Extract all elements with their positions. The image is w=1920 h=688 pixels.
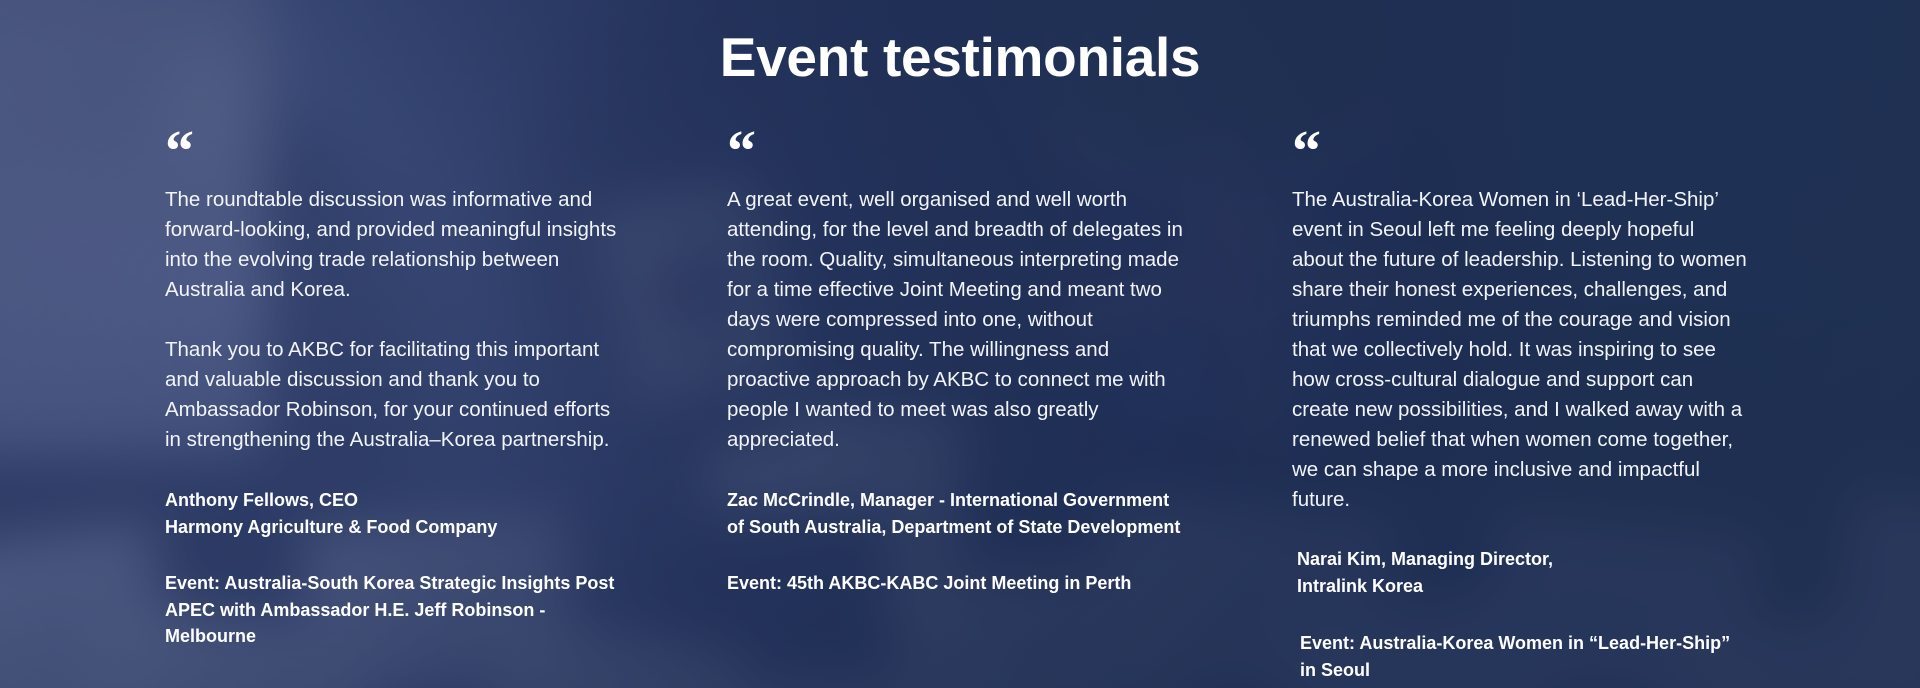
quote-open-icon: “ (1292, 133, 1747, 167)
testimonials-section: Event testimonials “ The roundtable disc… (0, 0, 1920, 688)
testimonial-quote-paragraph: Thank you to AKBC for facilitating this … (165, 335, 630, 455)
testimonial-event: Event: 45th AKBC-KABC Joint Meeting in P… (727, 570, 1187, 597)
page-title: Event testimonials (0, 26, 1920, 89)
quote-open-icon: “ (727, 133, 1187, 167)
testimonial-quote: The Australia-Korea Women in ‘Lead-Her-S… (1292, 185, 1747, 515)
quote-open-icon: “ (165, 133, 630, 167)
testimonial-quote-paragraph: A great event, well organised and well w… (727, 185, 1187, 455)
testimonial-attribution: Anthony Fellows, CEOHarmony Agriculture … (165, 487, 630, 540)
testimonial-card-1: “ The roundtable discussion was informat… (165, 133, 630, 650)
testimonial-quote-paragraph: The roundtable discussion was informativ… (165, 185, 630, 305)
testimonial-attribution: Narai Kim, Managing Director,Intralink K… (1292, 546, 1747, 599)
testimonial-quote-paragraph: The Australia-Korea Women in ‘Lead-Her-S… (1292, 185, 1747, 515)
testimonial-attribution: Zac McCrindle, Manager - International G… (727, 487, 1187, 540)
testimonial-card-2: “ A great event, well organised and well… (727, 133, 1187, 597)
testimonial-quote: The roundtable discussion was informativ… (165, 185, 630, 455)
testimonial-event: Event: Australia-Korea Women in “Lead-He… (1292, 630, 1747, 683)
testimonial-event: Event: Australia-South Korea Strategic I… (165, 570, 630, 650)
testimonial-card-3: “ The Australia-Korea Women in ‘Lead-Her… (1292, 133, 1747, 683)
testimonial-quote: A great event, well organised and well w… (727, 185, 1187, 455)
